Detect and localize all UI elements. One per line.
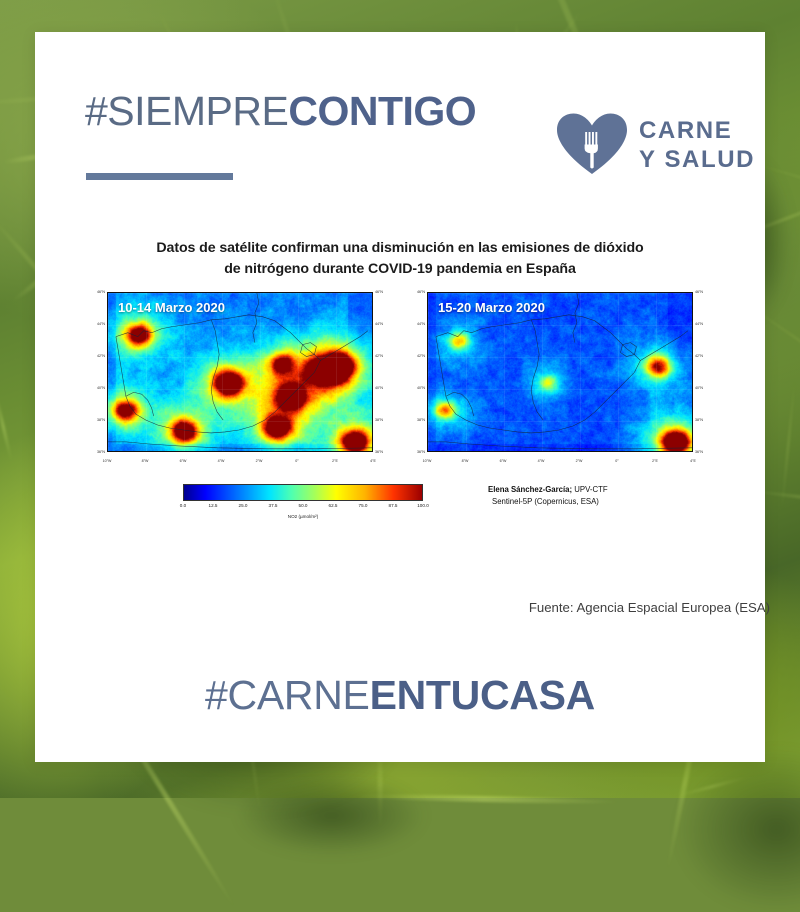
map-y-axis-right-2: 46°N44°N42°N40°N38°N36°N (694, 290, 710, 454)
footer-hashtag-bold: ENTUCASA (370, 672, 595, 718)
map-y-tick: 40°N (417, 386, 425, 390)
colorbar-tick: 100.0 (417, 503, 429, 508)
map-x-tick: 2°W (576, 459, 583, 463)
colorbar-tick: 62.5 (329, 503, 338, 508)
credit-line-1: Elena Sánchez-García; UPV-CTF (488, 484, 708, 496)
map-panel-pre-lockdown: 46°N44°N42°N40°N38°N36°N 46°N44°N42°N40°… (90, 290, 390, 470)
map-y-axis-left-2: 46°N44°N42°N40°N38°N36°N (410, 290, 426, 454)
map-y-tick: 38°N (695, 418, 703, 422)
map-x-tick: 2°E (652, 459, 658, 463)
colorbar-tick: 12.5 (209, 503, 218, 508)
map-y-tick: 36°N (417, 450, 425, 454)
map-y-tick: 44°N (695, 322, 703, 326)
map-x-tick: 4°E (370, 459, 376, 463)
map-y-tick: 42°N (375, 354, 383, 358)
colorbar-tick: 50.0 (299, 503, 308, 508)
header-hashtag: #SIEMPRECONTIGO (85, 88, 476, 135)
map-y-tick: 42°N (695, 354, 703, 358)
map-y-tick: 46°N (695, 290, 703, 294)
colorbar-label: NO2 (µmol/m²) (183, 514, 423, 519)
colorbar-tick: 0.0 (180, 503, 186, 508)
chart-credit: Elena Sánchez-García; UPV-CTF Sentinel-5… (488, 484, 708, 507)
brand-name-line2: Y SALUD (639, 145, 755, 174)
colorbar-tick: 37.5 (269, 503, 278, 508)
credit-author: Elena Sánchez-García; (488, 485, 572, 494)
map-y-tick: 40°N (97, 386, 105, 390)
map-y-tick: 46°N (97, 290, 105, 294)
no2-heatmap-lockdown: 15-20 Marzo 2020 (427, 292, 693, 452)
brand-name-line1: CARNE (639, 116, 755, 145)
map-y-axis-right: 46°N44°N42°N40°N38°N36°N (374, 290, 390, 454)
map-x-tick: 8°W (462, 459, 469, 463)
map-panels: 46°N44°N42°N40°N38°N36°N 46°N44°N42°N40°… (90, 290, 710, 470)
map-y-tick: 36°N (375, 450, 383, 454)
colorbar-ticks: 0.012.525.037.550.062.575.087.5100.0 (183, 503, 423, 513)
map-y-tick: 44°N (375, 322, 383, 326)
no2-heatmap-pre-lockdown: 10-14 Marzo 2020 (107, 292, 373, 452)
map-x-tick: 0° (615, 459, 618, 463)
map-x-axis-2: 10°W8°W6°W4°W2°W0°2°E4°E (427, 458, 693, 470)
map-y-tick: 46°N (375, 290, 383, 294)
header-hashtag-light: #SIEMPRE (85, 88, 288, 134)
map-y-tick: 42°N (417, 354, 425, 358)
footer-hashtag: #CARNEENTUCASA (35, 672, 765, 719)
map-y-tick: 38°N (97, 418, 105, 422)
header-rule (86, 173, 233, 180)
map-panel-label-1: 10-14 Marzo 2020 (118, 300, 225, 315)
brand-name: CARNE Y SALUD (639, 116, 755, 174)
colorbar-gradient (183, 484, 423, 501)
source-note: Fuente: Agencia Espacial Europea (ESA) (470, 600, 770, 615)
grass-blade (0, 391, 13, 462)
map-y-tick: 44°N (417, 322, 425, 326)
map-x-axis-1: 10°W8°W6°W4°W2°W0°2°E4°E (107, 458, 373, 470)
map-x-tick: 4°W (538, 459, 545, 463)
map-y-tick: 38°N (417, 418, 425, 422)
map-x-tick: 10°W (103, 459, 112, 463)
map-y-tick: 38°N (375, 418, 383, 422)
map-x-tick: 4°E (690, 459, 696, 463)
map-y-tick: 36°N (695, 450, 703, 454)
map-panel-lockdown: 46°N44°N42°N40°N38°N36°N 46°N44°N42°N40°… (410, 290, 710, 470)
map-panel-label-2: 15-20 Marzo 2020 (438, 300, 545, 315)
colorbar-tick: 75.0 (359, 503, 368, 508)
credit-source: Sentinel-5P (Copernicus, ESA) (488, 496, 708, 508)
map-y-tick: 36°N (97, 450, 105, 454)
info-card: #SIEMPRECONTIGO CARNE Y SALUD (35, 32, 765, 762)
map-x-tick: 0° (295, 459, 298, 463)
map-x-tick: 10°W (423, 459, 432, 463)
colorbar-tick: 87.5 (389, 503, 398, 508)
map-y-tick: 40°N (695, 386, 703, 390)
colorbar-tick: 25.0 (239, 503, 248, 508)
colorbar: 0.012.525.037.550.062.575.087.5100.0 NO2… (183, 484, 423, 519)
chart-title-line2: de nitrógeno durante COVID-19 pandemia e… (90, 259, 710, 280)
map-x-tick: 6°W (500, 459, 507, 463)
coastline-overlay (108, 293, 372, 452)
chart-title: Datos de satélite confirman una disminuc… (90, 238, 710, 280)
footer-hashtag-light: #CARNE (205, 672, 370, 718)
infographic: Datos de satélite confirman una disminuc… (90, 228, 710, 628)
coastline-overlay-2 (428, 293, 692, 452)
map-x-tick: 8°W (142, 459, 149, 463)
heart-with-fork-icon (556, 112, 628, 176)
chart-title-line1: Datos de satélite confirman una disminuc… (90, 238, 710, 259)
background-shadow (675, 747, 800, 912)
map-x-tick: 4°W (218, 459, 225, 463)
credit-affiliation: UPV-CTF (574, 485, 607, 494)
map-y-tick: 44°N (97, 322, 105, 326)
brand-logo: CARNE Y SALUD (556, 112, 761, 180)
map-x-tick: 2°E (332, 459, 338, 463)
header-hashtag-bold: CONTIGO (288, 88, 476, 134)
map-x-tick: 2°W (256, 459, 263, 463)
map-x-tick: 6°W (180, 459, 187, 463)
map-y-axis-left: 46°N44°N42°N40°N38°N36°N (90, 290, 106, 454)
map-y-tick: 46°N (417, 290, 425, 294)
map-y-tick: 40°N (375, 386, 383, 390)
map-y-tick: 42°N (97, 354, 105, 358)
